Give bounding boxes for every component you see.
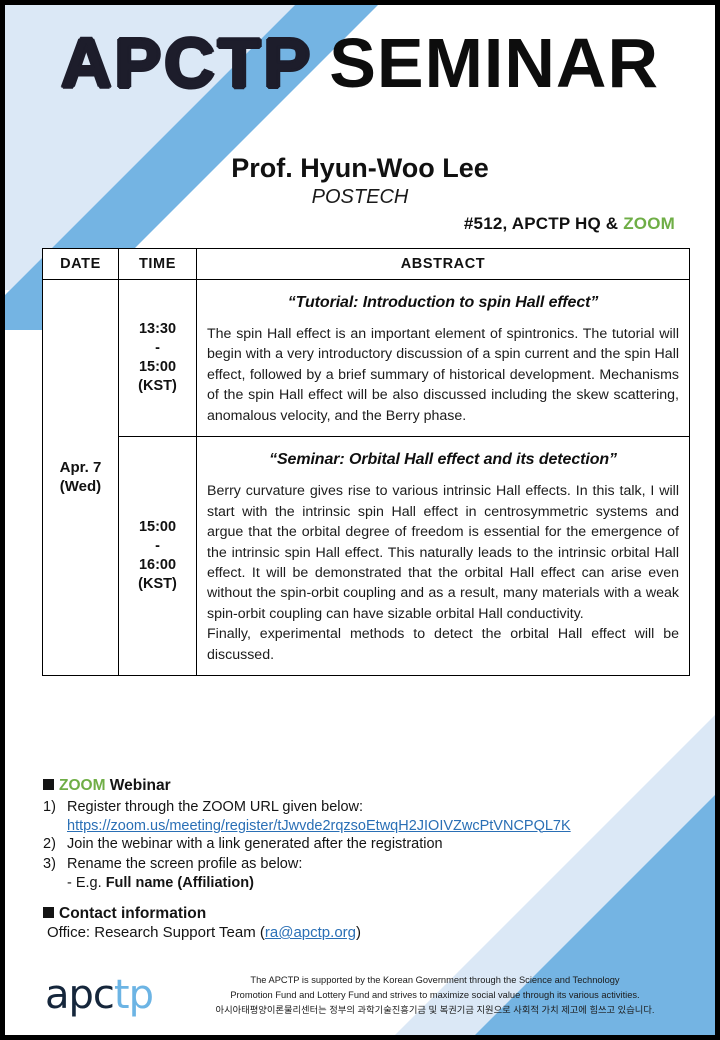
logo-text-apc: apc — [45, 972, 114, 1018]
abstract-body: Berry curvature gives rise to various in… — [207, 481, 679, 624]
cell-abstract: “Tutorial: Introduction to spin Hall eff… — [197, 280, 690, 437]
contact-email-link[interactable]: ra@apctp.org — [265, 924, 356, 941]
abstract-body-continued: Finally, experimental methods to detect … — [207, 624, 679, 665]
rename-example-prefix: - E.g. — [67, 875, 106, 891]
seminar-poster: APCTPSEMINAR Prof. Hyun-Woo Lee POSTECH … — [0, 0, 720, 1040]
step-text: Register through the ZOOM URL given belo… — [67, 797, 693, 818]
poster-title: APCTPSEMINAR — [5, 23, 715, 103]
webinar-heading-rest: Webinar — [106, 777, 171, 794]
abstract-body: The spin Hall effect is an important ele… — [207, 324, 679, 426]
table-row: 15:00-16:00(KST) “Seminar: Orbital Hall … — [43, 437, 690, 676]
cell-abstract: “Seminar: Orbital Hall effect and its de… — [197, 437, 690, 676]
cell-time: 13:30-15:00(KST) — [119, 280, 197, 437]
venue-line: #512, APCTP HQ & ZOOM — [464, 214, 675, 234]
registration-url-link[interactable]: https://zoom.us/meeting/register/tJwvde2… — [67, 818, 571, 834]
apctp-logo: apctp — [45, 975, 153, 1015]
list-item: 3) Rename the screen profile as below: — [43, 854, 693, 875]
speaker-name: Prof. Hyun-Woo Lee — [5, 153, 715, 184]
bullet-square-icon — [43, 779, 54, 790]
cell-time: 15:00-16:00(KST) — [119, 437, 197, 676]
step-number: 2) — [43, 834, 67, 855]
bullet-square-icon — [43, 907, 54, 918]
schedule-header-row: DATE TIME ABSTRACT — [43, 249, 690, 280]
support-line-ko: 아시아태평양이론물리센터는 정부의 과학기술진흥기금 및 복권기금 지원으로 사… — [185, 1003, 685, 1018]
cell-date: Apr. 7(Wed) — [43, 280, 119, 676]
contact-heading: Contact information — [43, 905, 693, 923]
title-seminar: SEMINAR — [329, 24, 659, 102]
webinar-step-list-rest: 2) Join the webinar with a link generate… — [43, 834, 693, 875]
speaker-affiliation: POSTECH — [5, 186, 715, 209]
schedule-body: Apr. 7(Wed) 13:30-15:00(KST) “Tutorial: … — [43, 280, 690, 676]
support-line-en-2: Promotion Fund and Lottery Fund and stri… — [185, 988, 685, 1003]
contact-office-line: Office: Research Support Team (ra@apctp.… — [47, 924, 693, 941]
contact-heading-label: Contact information — [59, 905, 206, 922]
webinar-instructions: ZOOM Webinar 1) Register through the ZOO… — [43, 777, 693, 891]
support-line-en-1: The APCTP is supported by the Korean Gov… — [185, 973, 685, 988]
schedule-head: DATE TIME ABSTRACT — [43, 249, 690, 280]
step-number: 3) — [43, 854, 67, 875]
list-item: 1) Register through the ZOOM URL given b… — [43, 797, 693, 818]
rename-example: - E.g. Full name (Affiliation) — [67, 875, 693, 891]
schedule-table: DATE TIME ABSTRACT Apr. 7(Wed) 13:30-15:… — [42, 248, 690, 676]
poster-footer: apctp The APCTP is supported by the Kore… — [5, 967, 715, 1035]
abstract-title: “Seminar: Orbital Hall effect and its de… — [207, 451, 679, 469]
column-header-time: TIME — [119, 249, 197, 280]
webinar-heading: ZOOM Webinar — [43, 777, 693, 795]
column-header-abstract: ABSTRACT — [197, 249, 690, 280]
contact-section: Contact information Office: Research Sup… — [43, 905, 693, 941]
table-row: Apr. 7(Wed) 13:30-15:00(KST) “Tutorial: … — [43, 280, 690, 437]
abstract-title: “Tutorial: Introduction to spin Hall eff… — [207, 294, 679, 312]
step-number: 1) — [43, 797, 67, 818]
registration-url-line: https://zoom.us/meeting/register/tJwvde2… — [67, 818, 693, 834]
step-text: Join the webinar with a link generated a… — [67, 834, 693, 855]
logo-text-tp: tp — [114, 972, 153, 1018]
poster-content: APCTPSEMINAR Prof. Hyun-Woo Lee POSTECH … — [5, 5, 715, 1035]
step-text: Rename the screen profile as below: — [67, 854, 693, 875]
contact-office-suffix: ) — [356, 924, 361, 941]
title-apctp: APCTP — [61, 24, 313, 102]
contact-office-prefix: Office: Research Support Team ( — [47, 924, 265, 941]
venue-place: #512, APCTP HQ & — [464, 214, 623, 233]
column-header-date: DATE — [43, 249, 119, 280]
rename-example-value: Full name (Affiliation) — [106, 875, 254, 891]
list-item: 2) Join the webinar with a link generate… — [43, 834, 693, 855]
support-statement: The APCTP is supported by the Korean Gov… — [185, 973, 685, 1018]
venue-zoom-label: ZOOM — [623, 214, 675, 233]
webinar-heading-zoom: ZOOM — [59, 777, 106, 794]
webinar-step-list: 1) Register through the ZOOM URL given b… — [43, 797, 693, 818]
